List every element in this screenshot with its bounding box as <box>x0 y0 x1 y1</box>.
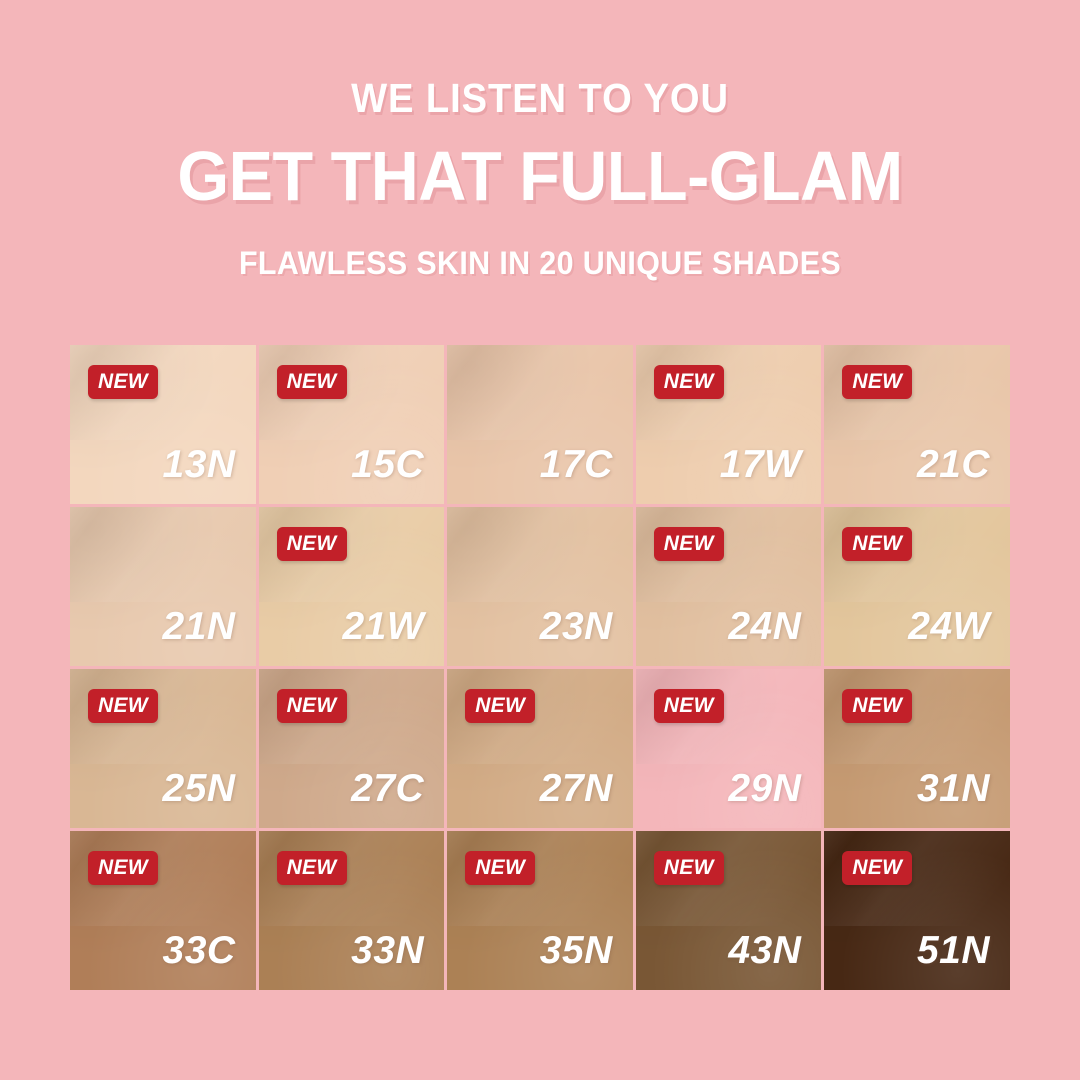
header-block: WE LISTEN TO YOU GET THAT FULL-GLAM FLAW… <box>0 78 1080 279</box>
shade-swatch[interactable]: NEW17C <box>447 345 633 504</box>
shade-swatch[interactable]: NEW27C <box>259 669 445 828</box>
shade-code-label: 35N <box>540 931 613 970</box>
new-badge: NEW <box>842 365 912 399</box>
shade-code-label: 21N <box>163 607 236 646</box>
shade-code-label: 27N <box>540 769 613 808</box>
new-badge: NEW <box>88 365 158 399</box>
shade-swatch[interactable]: NEW35N <box>447 831 633 990</box>
shade-code-label: 33N <box>351 931 424 970</box>
shade-swatch[interactable]: NEW33C <box>70 831 256 990</box>
new-badge: NEW <box>654 365 724 399</box>
shade-swatch[interactable]: NEW23N <box>447 507 633 666</box>
shade-swatch[interactable]: NEW21W <box>259 507 445 666</box>
shade-code-label: 21C <box>917 445 990 484</box>
shade-code-label: 23N <box>540 607 613 646</box>
new-badge: NEW <box>88 851 158 885</box>
new-badge: NEW <box>654 527 724 561</box>
shade-code-label: 29N <box>728 769 801 808</box>
shade-code-label: 24W <box>908 607 990 646</box>
shade-code-label: 13N <box>163 445 236 484</box>
new-badge: NEW <box>277 365 347 399</box>
new-badge: NEW <box>277 851 347 885</box>
shade-code-label: 17W <box>720 445 802 484</box>
new-badge: NEW <box>654 851 724 885</box>
shade-swatch[interactable]: NEW17W <box>636 345 822 504</box>
shade-swatch[interactable]: NEW24N <box>636 507 822 666</box>
shade-grid: NEW13NNEW15CNEW17CNEW17WNEW21CNEW21NNEW2… <box>70 345 1010 990</box>
shade-code-label: 43N <box>728 931 801 970</box>
new-badge: NEW <box>277 527 347 561</box>
new-badge: NEW <box>465 851 535 885</box>
shade-swatch[interactable]: NEW43N <box>636 831 822 990</box>
shade-code-label: 21W <box>342 607 424 646</box>
shade-swatch[interactable]: NEW33N <box>259 831 445 990</box>
shade-swatch[interactable]: NEW15C <box>259 345 445 504</box>
shade-code-label: 24N <box>728 607 801 646</box>
shade-swatch[interactable]: NEW51N <box>824 831 1010 990</box>
new-badge: NEW <box>842 851 912 885</box>
shade-swatch[interactable]: NEW27N <box>447 669 633 828</box>
shade-code-label: 15C <box>351 445 424 484</box>
shade-code-label: 31N <box>917 769 990 808</box>
shade-code-label: 17C <box>540 445 613 484</box>
shade-code-label: 27C <box>351 769 424 808</box>
shade-swatch[interactable]: NEW21C <box>824 345 1010 504</box>
new-badge: NEW <box>277 689 347 723</box>
shade-code-label: 25N <box>163 769 236 808</box>
shade-swatch[interactable]: NEW31N <box>824 669 1010 828</box>
new-badge: NEW <box>465 689 535 723</box>
new-badge: NEW <box>842 689 912 723</box>
shade-code-label: 33C <box>163 931 236 970</box>
shade-swatch[interactable]: NEW29N <box>636 669 822 828</box>
eyebrow-text: WE LISTEN TO YOU <box>38 78 1042 119</box>
new-badge: NEW <box>654 689 724 723</box>
new-badge: NEW <box>842 527 912 561</box>
subtitle-text: FLAWLESS SKIN IN 20 UNIQUE SHADES <box>27 247 1053 279</box>
shade-code-label: 51N <box>917 931 990 970</box>
shade-swatch[interactable]: NEW24W <box>824 507 1010 666</box>
shade-swatch[interactable]: NEW25N <box>70 669 256 828</box>
page-title: GET THAT FULL-GLAM <box>27 141 1053 211</box>
new-badge: NEW <box>88 689 158 723</box>
shade-swatch[interactable]: NEW21N <box>70 507 256 666</box>
shade-swatch[interactable]: NEW13N <box>70 345 256 504</box>
promo-page: WE LISTEN TO YOU GET THAT FULL-GLAM FLAW… <box>0 0 1080 1080</box>
